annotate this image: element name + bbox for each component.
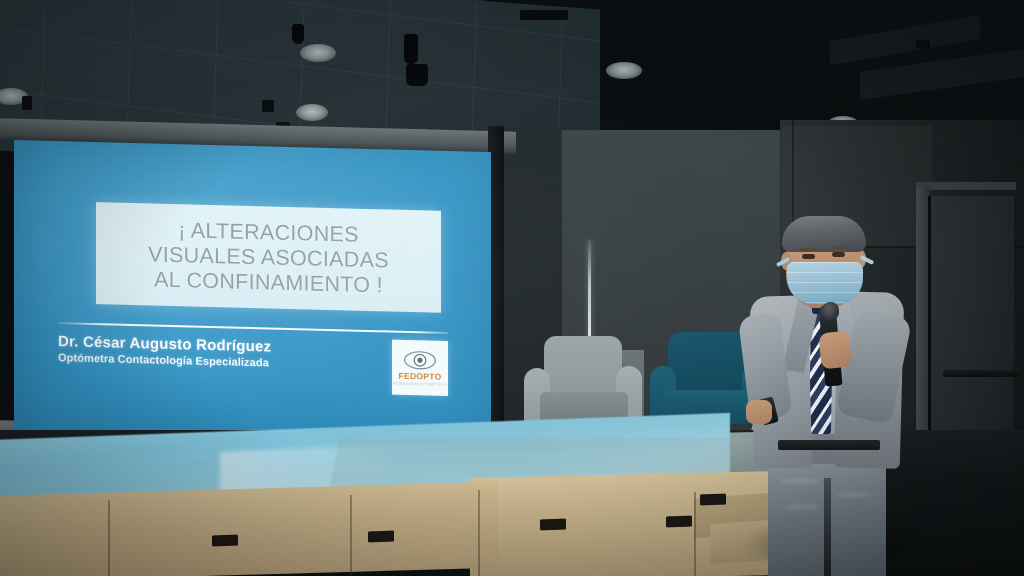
fedopto-wordmark: FEDOPTO [398, 370, 441, 381]
presenter [724, 216, 934, 576]
mask-pleats [787, 262, 863, 304]
trouser-fold-2 [784, 504, 820, 510]
downlight-1 [300, 44, 336, 62]
stage-handle-2 [368, 531, 394, 543]
ceiling-camera-2 [404, 34, 418, 64]
stage-seam-4 [694, 492, 696, 576]
ceiling-camera-1 [292, 24, 304, 44]
slide-presenter-role: Optómetra Contactología Especializada [58, 352, 269, 369]
fedopto-logo: FEDOPTO FEDERACION OPTOMETRICA [392, 340, 448, 396]
stage-platform-face [0, 482, 498, 576]
ceiling-speaker-2 [22, 96, 32, 110]
door-handle-icon[interactable] [943, 370, 1021, 377]
presenter-eye-right [832, 252, 845, 257]
fedopto-tagline: FEDERACION OPTOMETRICA [393, 381, 447, 386]
stage-seam-2 [350, 495, 352, 576]
ceiling-camera-3 [406, 64, 428, 86]
stage-handle-1 [212, 535, 238, 547]
stage-seam-3 [478, 490, 480, 576]
presenter-leg-split [824, 478, 831, 576]
slide-title-block: ¡ ALTERACIONES VISUALES ASOCIADAS AL CON… [96, 202, 441, 313]
presentation-slide: ¡ ALTERACIONES VISUALES ASOCIADAS AL CON… [14, 140, 491, 444]
ceiling-sensor [916, 40, 930, 48]
ceiling-projector-mount [520, 10, 568, 20]
presenter-hand-left [746, 400, 772, 424]
downlight-5 [606, 62, 642, 79]
presenter-hand-right [818, 331, 852, 370]
downlight-2 [296, 104, 328, 121]
presenter-eyebrow-left [800, 248, 816, 251]
stage-handle-3 [540, 519, 566, 531]
door-header [916, 182, 1016, 190]
trouser-fold-3 [836, 492, 872, 498]
trouser-fold-1 [780, 478, 820, 485]
ceiling-speaker-1 [262, 100, 274, 112]
stage-seam-1 [108, 500, 110, 576]
face-mask [787, 262, 863, 304]
slide-title: ¡ ALTERACIONES VISUALES ASOCIADAS AL CON… [148, 217, 389, 298]
stage-handle-4 [666, 516, 692, 528]
presenter-hair [782, 216, 866, 252]
chair-back [544, 336, 622, 400]
presenter-belt [778, 440, 880, 450]
eye-icon [403, 349, 437, 370]
presenter-eye-left [802, 254, 815, 259]
presentation-photo: ¡ ALTERACIONES VISUALES ASOCIADAS AL CON… [0, 0, 1024, 576]
stage-handle-5 [700, 494, 726, 506]
presenter-eyebrow-right [830, 246, 846, 249]
slide-divider-rule [58, 322, 448, 334]
